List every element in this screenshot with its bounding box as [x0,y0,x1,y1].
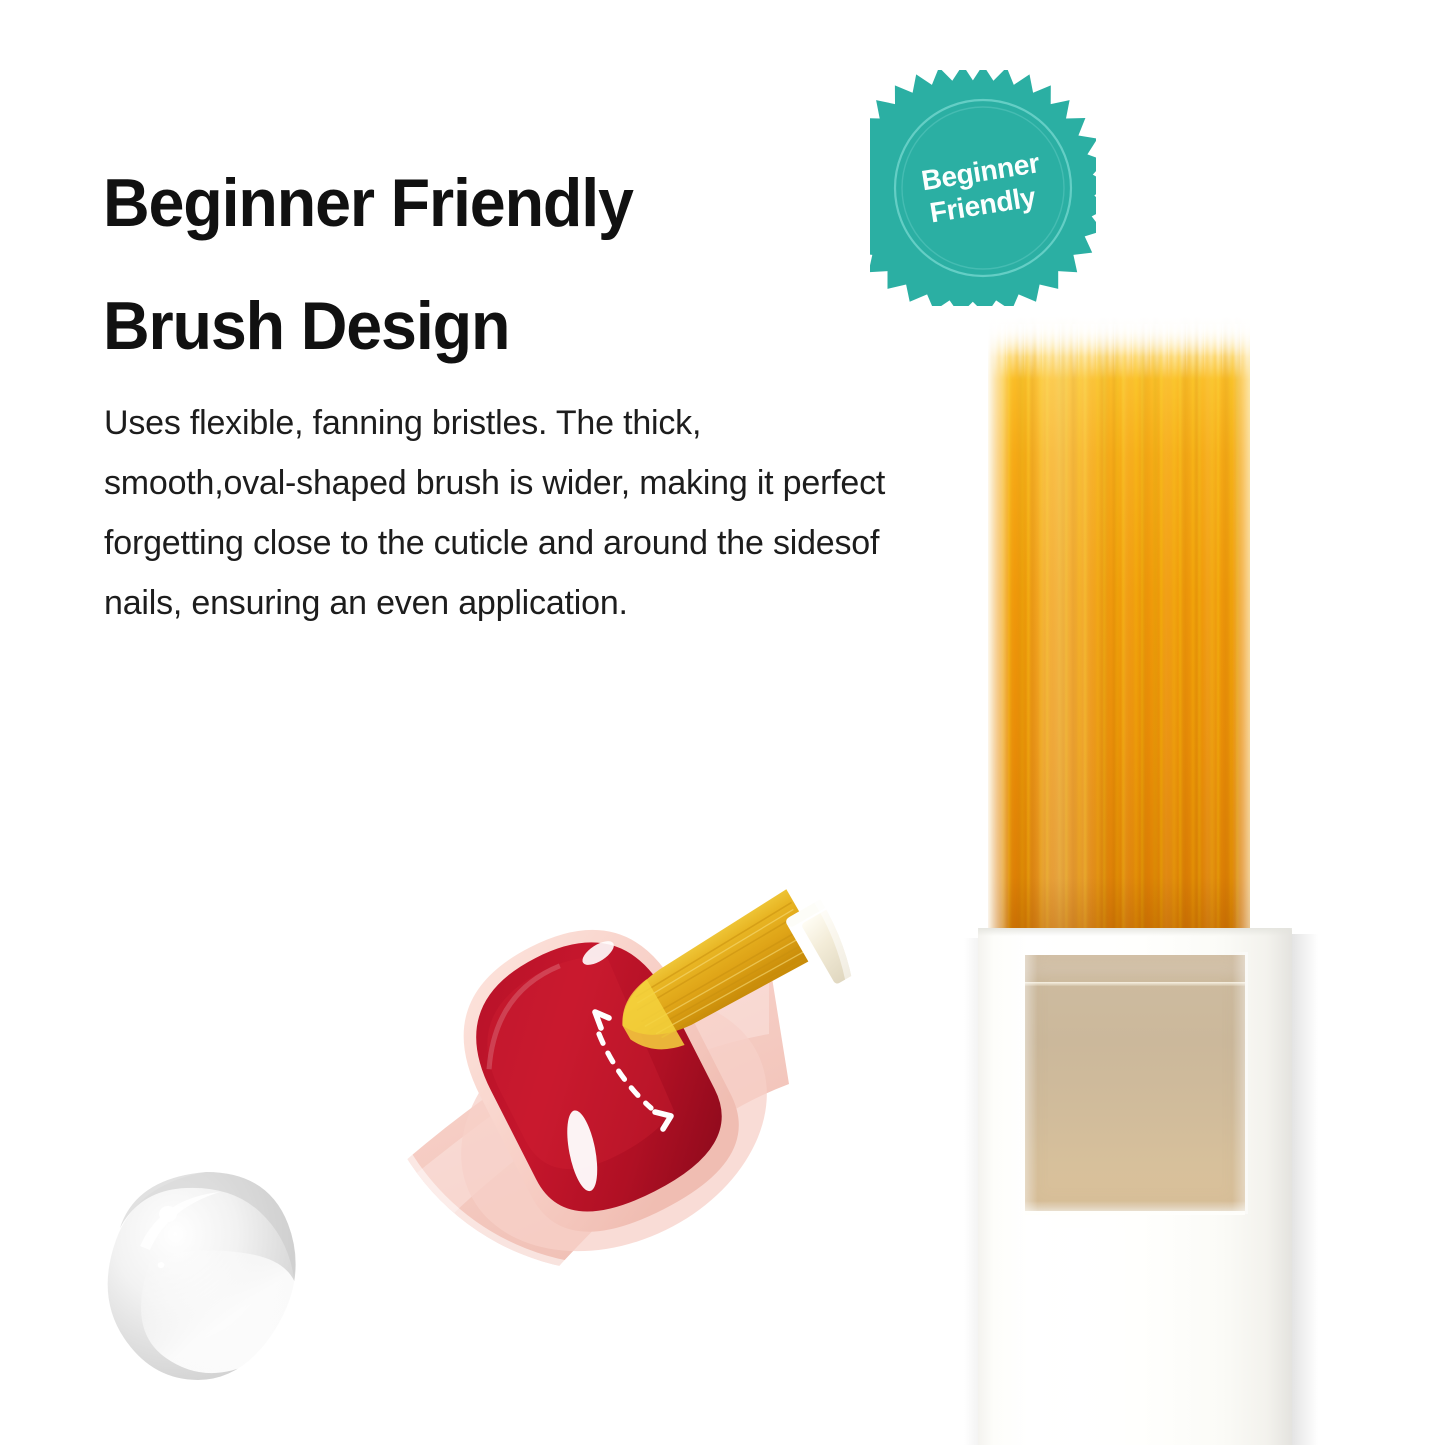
ferrule-edge-blur [1022,952,1248,1214]
bristle-left-fade [988,316,1010,948]
bristle-tip-fade [988,316,1250,380]
ferrule-bottom-fade [1025,1201,1245,1215]
product-description: Uses flexible, fanning bristles. The thi… [104,393,902,633]
handle-top-edge [978,928,1292,936]
brush-handle [978,928,1292,1445]
product-feature-card: Beginner Friendly Brush Design Uses flex… [0,0,1445,1445]
application-photo [369,784,857,1272]
handle-sheen [996,1228,1146,1445]
bristle-sheen [1025,316,1114,948]
bristle-right-fade [1232,316,1250,948]
beginner-friendly-badge: Beginner Friendly [870,70,1096,306]
droplet-inner-light [141,1250,298,1373]
starburst-shape [870,70,1096,306]
brush-ferrule [1025,955,1245,1211]
handle-right-shadow [1288,934,1318,1445]
droplet-highlight-small [158,1262,165,1268]
brush-bristles [988,316,1250,948]
water-droplet [106,1166,306,1384]
page-title: Beginner Friendly Brush Design [103,142,854,390]
